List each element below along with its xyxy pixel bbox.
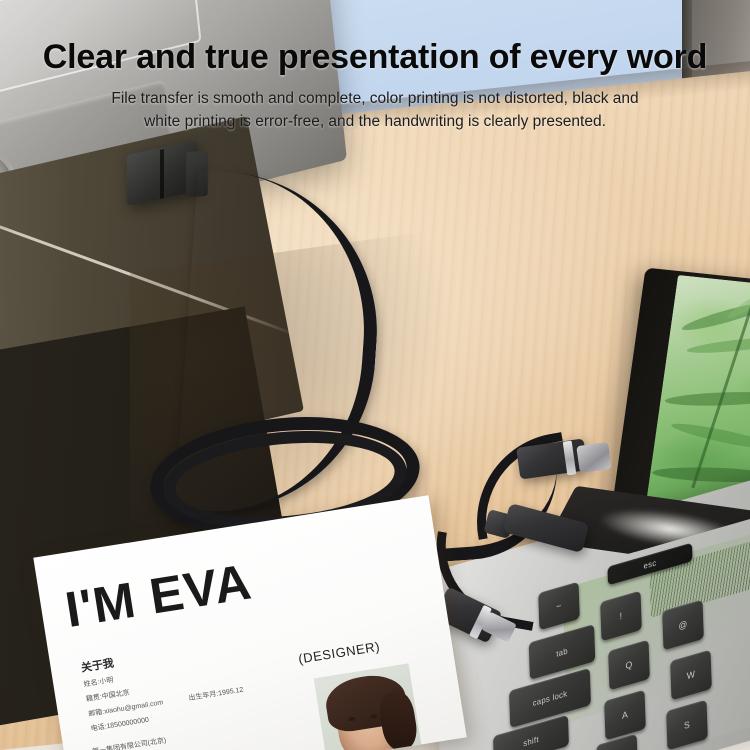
usb-a-seam bbox=[160, 149, 164, 199]
usb-c-metal-tip bbox=[576, 442, 611, 473]
resume-section-title: 关于我 bbox=[80, 655, 115, 676]
subtext-line-1: File transfer is smooth and complete, co… bbox=[0, 90, 750, 108]
fern-frond bbox=[652, 466, 750, 484]
resume-portrait-photo bbox=[314, 663, 422, 750]
subtext-line-2: white printing is error-free, and the ha… bbox=[0, 113, 750, 131]
fern-frond bbox=[665, 390, 750, 407]
resume-role: (DESIGNER) bbox=[297, 639, 381, 667]
fern-frond bbox=[681, 298, 750, 335]
resume-company: 第一集团有限公司(北京) bbox=[92, 735, 167, 750]
product-scene: esc ~ ! @ tab Q W caps lock A S shift Z … bbox=[0, 0, 750, 750]
headline-text: Clear and true presentation of every wor… bbox=[0, 38, 750, 77]
resume-name: I'M EVA bbox=[61, 552, 255, 639]
